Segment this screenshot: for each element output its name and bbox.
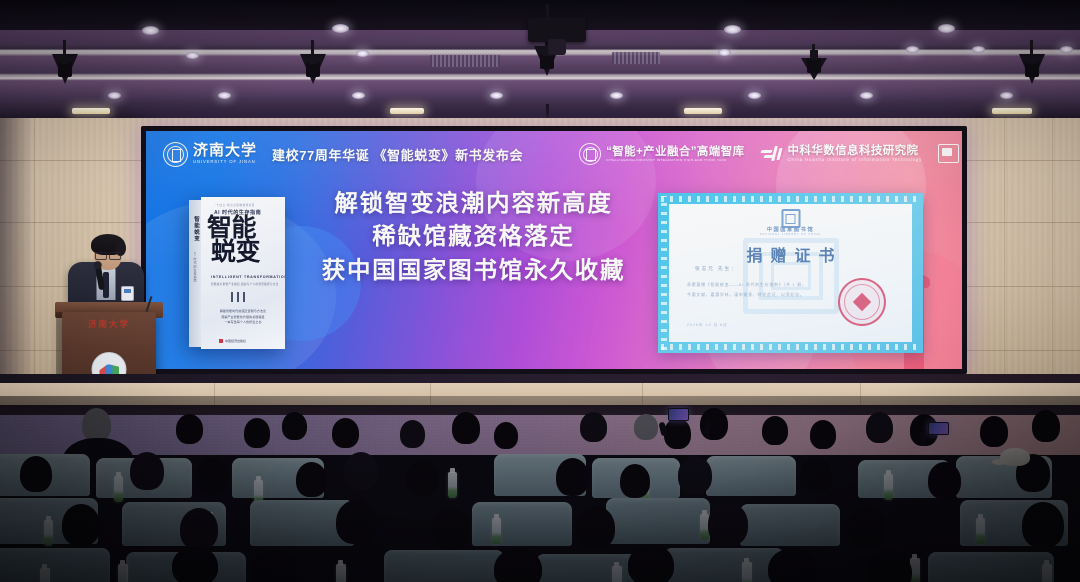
recessed-downlight-icon — [610, 92, 623, 99]
audience-head — [628, 544, 674, 582]
recessed-downlight-icon — [490, 92, 503, 99]
speaker-glasses-icon — [95, 252, 121, 258]
spotlight-rod — [1030, 40, 1033, 54]
air-vent-icon — [612, 52, 660, 64]
seat[interactable] — [0, 548, 110, 582]
audience-head — [336, 500, 376, 544]
stage-spotlight-icon — [300, 54, 326, 84]
seat[interactable] — [740, 504, 840, 546]
audience-head — [980, 416, 1008, 447]
water-bottle-icon[interactable] — [336, 564, 346, 582]
seat[interactable] — [664, 548, 784, 582]
audience-head — [664, 418, 691, 449]
audience-head — [928, 462, 961, 499]
led-screen: 济南大学 UNIVERSITY OF JINAN 建校77周年华诞 《智能蜕变》… — [146, 131, 962, 369]
audience — [0, 396, 1080, 582]
water-bottle-icon[interactable] — [40, 568, 50, 582]
recessed-downlight-icon — [748, 92, 761, 99]
audience-head — [176, 414, 203, 444]
audience-head — [762, 416, 788, 445]
air-vent-icon — [430, 55, 500, 67]
smartphone-recording-icon[interactable] — [928, 422, 949, 435]
water-bottle-icon[interactable] — [884, 474, 893, 500]
white-cap-icon — [1000, 448, 1030, 466]
speaker-name-badge — [121, 286, 134, 301]
recessed-downlight-icon — [108, 92, 121, 99]
recessed-downlight-icon — [724, 25, 741, 34]
seat[interactable] — [928, 552, 1054, 582]
audience-head — [452, 412, 480, 444]
recessed-downlight-icon — [356, 50, 369, 57]
recessed-downlight-icon — [718, 49, 731, 56]
projector-mount — [546, 4, 549, 20]
audience-head — [800, 458, 832, 494]
water-bottle-icon[interactable] — [1042, 564, 1052, 582]
audience-head — [172, 546, 218, 582]
audience-head — [866, 552, 912, 582]
audience-head — [494, 422, 518, 449]
audience-head — [678, 456, 712, 494]
recessed-downlight-icon — [1000, 92, 1013, 99]
water-bottle-icon[interactable] — [612, 566, 622, 582]
ceiling-projector-icon — [528, 18, 586, 42]
audience-head — [634, 414, 658, 440]
linear-panel-light-icon — [72, 108, 110, 114]
audience-head — [332, 418, 359, 448]
audience-head — [810, 420, 836, 449]
recessed-downlight-icon — [352, 92, 365, 99]
seat[interactable] — [472, 502, 572, 546]
audience-head — [180, 508, 218, 550]
audience-head — [576, 506, 615, 549]
recessed-downlight-icon — [860, 92, 873, 99]
audience-head — [768, 548, 818, 582]
seat[interactable] — [706, 456, 796, 496]
audience-head — [244, 418, 270, 448]
audience-head — [62, 504, 100, 546]
audience-head — [432, 508, 470, 550]
water-bottle-icon[interactable] — [114, 476, 123, 502]
linear-panel-light-icon — [390, 108, 424, 114]
audience-head — [494, 548, 542, 582]
recessed-downlight-icon — [186, 52, 199, 59]
ceiling — [0, 0, 1080, 122]
auditorium-scene: 济南大学 UNIVERSITY OF JINAN 建校77周年华诞 《智能蜕变》… — [0, 0, 1080, 582]
audience-head — [866, 412, 893, 443]
audience-head — [344, 452, 378, 490]
recessed-downlight-icon — [218, 92, 231, 99]
linear-panel-light-icon — [992, 108, 1032, 114]
water-bottle-icon[interactable] — [742, 562, 752, 582]
recessed-downlight-icon — [142, 26, 159, 35]
recessed-downlight-icon — [938, 24, 955, 33]
water-bottle-icon[interactable] — [448, 472, 457, 498]
audience-head — [708, 502, 748, 546]
audience-head — [406, 460, 438, 496]
recessed-downlight-icon — [972, 46, 985, 53]
water-bottle-icon[interactable] — [118, 564, 128, 582]
audience-head — [82, 408, 111, 442]
podium-name-plate: 济南大学 — [62, 318, 156, 330]
water-bottle-icon[interactable] — [976, 518, 985, 544]
audience-head — [580, 412, 607, 442]
seat[interactable] — [384, 550, 504, 582]
audience-head — [1022, 502, 1064, 548]
audience-head — [196, 458, 229, 495]
audience-head — [250, 550, 298, 582]
stage-spotlight-icon — [1019, 54, 1045, 84]
audience-head — [620, 464, 650, 498]
recessed-downlight-icon — [332, 24, 349, 33]
smartphone-recording-icon[interactable] — [668, 408, 689, 421]
audience-head — [130, 452, 164, 490]
linear-panel-light-icon — [684, 108, 722, 114]
led-screen-frame: 济南大学 UNIVERSITY OF JINAN 建校77周年华诞 《智能蜕变》… — [141, 126, 967, 374]
audience-head — [282, 412, 307, 440]
water-bottle-icon[interactable] — [492, 518, 501, 544]
seat[interactable] — [606, 498, 710, 544]
water-bottle-icon[interactable] — [44, 520, 53, 546]
spotlight-rod — [311, 40, 314, 54]
audience-head — [296, 462, 327, 497]
stage-spotlight-icon — [52, 54, 78, 84]
screen-glare — [146, 131, 962, 369]
recessed-downlight-icon — [1060, 46, 1073, 53]
audience-head — [556, 458, 589, 496]
spotlight-rod — [63, 40, 66, 54]
audience-head — [848, 506, 886, 548]
audience-head — [400, 420, 425, 448]
audience-head — [20, 456, 52, 492]
stage-spotlight-icon — [801, 58, 827, 80]
audience-head — [1032, 410, 1060, 442]
recessed-downlight-icon — [906, 46, 919, 53]
